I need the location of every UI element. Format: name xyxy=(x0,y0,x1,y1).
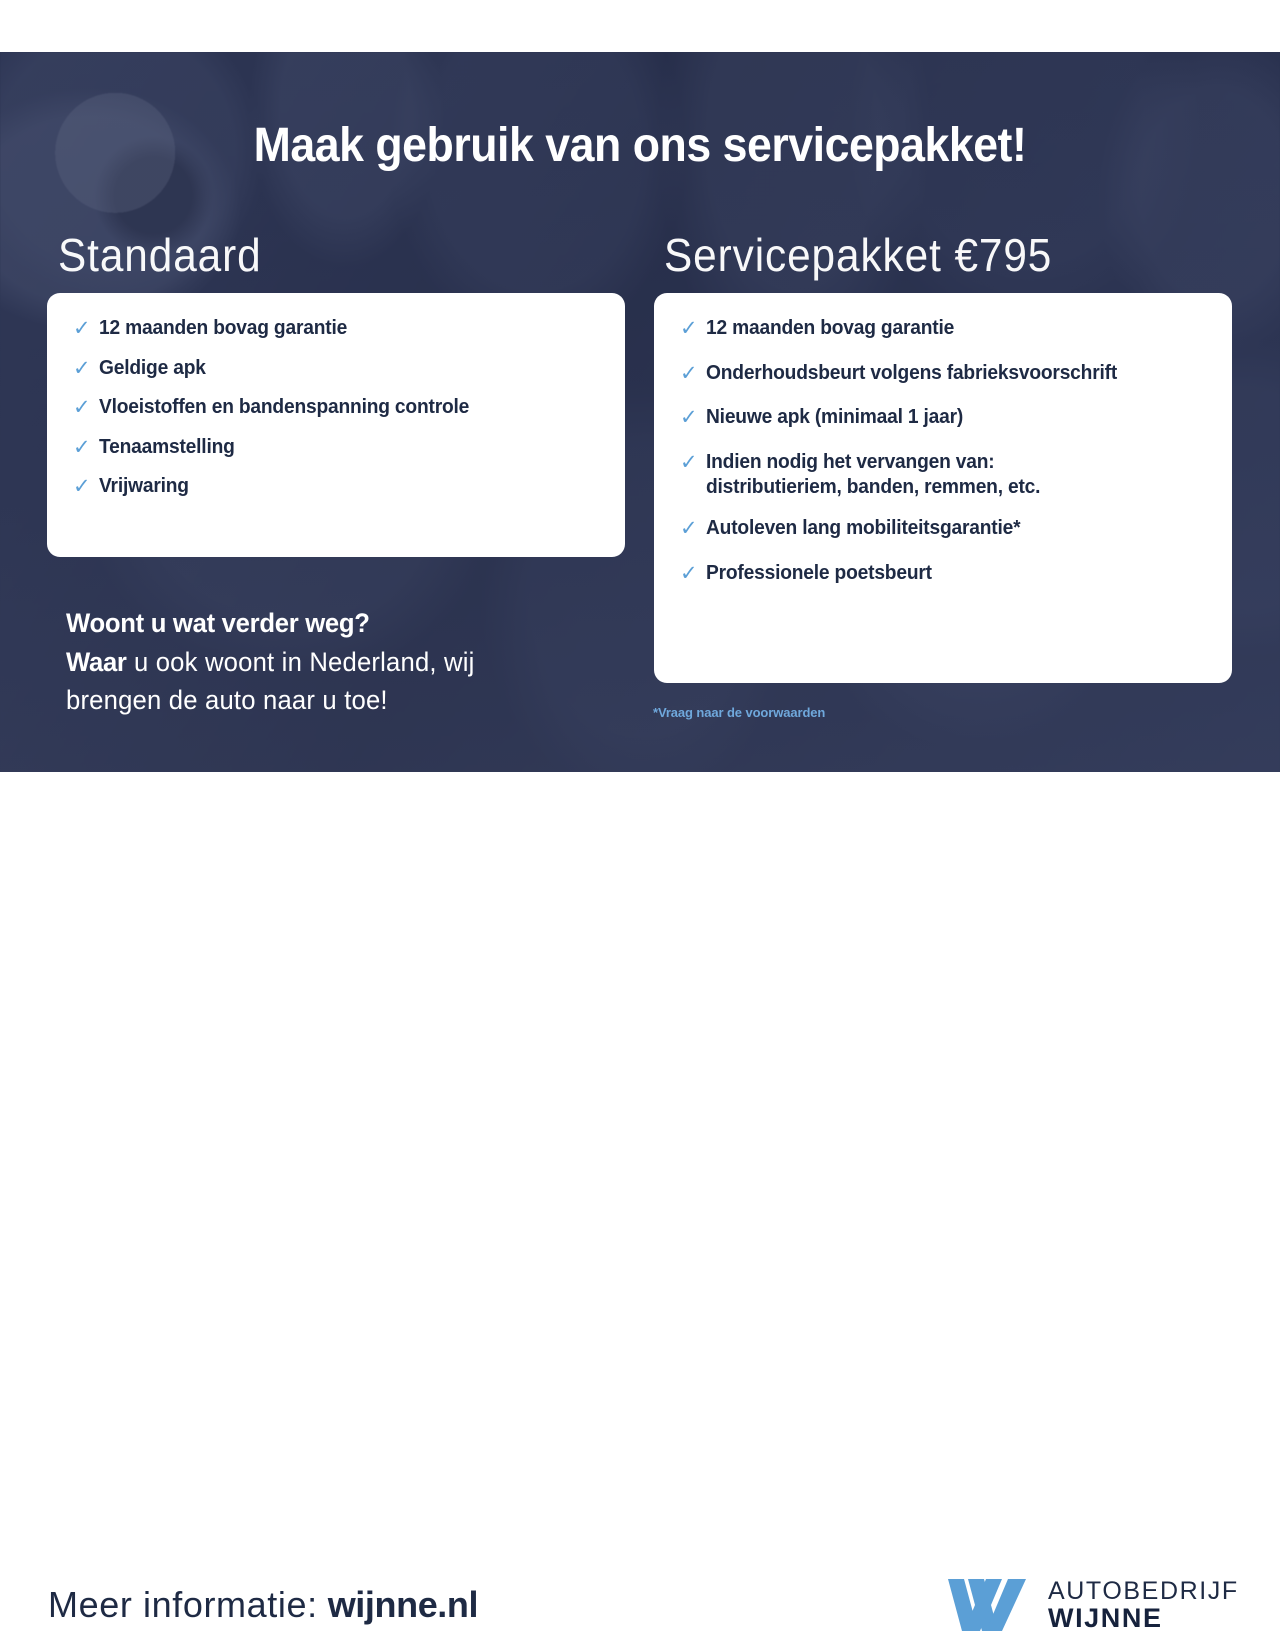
conditions-footnote: *Vraag naar de voorwaarden xyxy=(653,705,825,720)
logo-line-autobedrijf: AUTOBEDRIJF xyxy=(1048,1578,1239,1604)
check-icon: ✓ xyxy=(680,362,702,386)
promo-body: Waar u ook woont in Nederland, wij breng… xyxy=(66,643,598,720)
logo-line-wijnne: WIJNNE xyxy=(1048,1604,1239,1632)
website-link[interactable]: wijnne.nl xyxy=(328,1584,478,1625)
list-item: ✓ Vrijwaring xyxy=(73,475,599,499)
promo-heading: Woont u wat verder weg? xyxy=(66,604,598,643)
promo-body-line2: brengen de auto naar u toe! xyxy=(66,681,598,720)
list-item: ✓ Tenaamstelling xyxy=(73,436,599,460)
wijnne-w-logo-icon xyxy=(948,1579,1032,1631)
feature-label: Onderhoudsbeurt volgens fabrieksvoorschr… xyxy=(706,362,1117,386)
list-item: ✓ Geldige apk xyxy=(73,357,599,381)
check-icon: ✓ xyxy=(73,436,95,460)
check-icon: ✓ xyxy=(73,357,95,381)
footer-bar: Meer informatie: wijnne.nl AUTOBEDRIJF W… xyxy=(0,772,1280,960)
check-icon: ✓ xyxy=(73,396,95,420)
check-icon: ✓ xyxy=(73,475,95,499)
feature-label: Tenaamstelling xyxy=(99,436,235,460)
list-item: ✓ Autoleven lang mobiliteitsgarantie* xyxy=(680,517,1206,541)
feature-label-continuation: distributieriem, banden, remmen, etc. xyxy=(706,476,1186,499)
check-icon: ✓ xyxy=(680,451,702,475)
list-item: ✓ Onderhoudsbeurt volgens fabrieksvoorsc… xyxy=(680,362,1206,386)
more-info-label: Meer informatie: xyxy=(48,1584,318,1625)
list-item: ✓ 12 maanden bovag garantie xyxy=(73,317,599,341)
feature-label: Autoleven lang mobiliteitsgarantie* xyxy=(706,517,1020,541)
feature-label: Vloeistoffen en bandenspanning controle xyxy=(99,396,469,420)
list-item: ✓ Nieuwe apk (minimaal 1 jaar) xyxy=(680,406,1206,430)
service-package-poster: Maak gebruik van ons servicepakket! Stan… xyxy=(0,0,1280,960)
list-item: ✓ Indien nodig het vervangen van: xyxy=(680,451,1206,475)
feature-label: Geldige apk xyxy=(99,357,206,381)
feature-label: 12 maanden bovag garantie xyxy=(706,317,954,341)
list-item: ✓ Professionele poetsbeurt xyxy=(680,562,1206,586)
feature-label: Professionele poetsbeurt xyxy=(706,562,932,586)
standaard-feature-card: ✓ 12 maanden bovag garantie ✓ Geldige ap… xyxy=(47,293,625,557)
check-icon: ✓ xyxy=(680,406,702,430)
promo-lead-word: Waar xyxy=(66,647,127,677)
column-title-standaard: Standaard xyxy=(58,228,262,282)
logo-wordmark: AUTOBEDRIJF WIJNNE xyxy=(1048,1578,1239,1633)
more-info-line: Meer informatie: wijnne.nl xyxy=(48,1584,478,1626)
check-icon: ✓ xyxy=(680,562,702,586)
promo-body-line1: u ook woont in Nederland, wij xyxy=(127,647,475,677)
feature-label: Indien nodig het vervangen van: xyxy=(706,451,994,475)
servicepakket-feature-card: ✓ 12 maanden bovag garantie ✓ Onderhouds… xyxy=(654,293,1232,683)
check-icon: ✓ xyxy=(73,317,95,341)
delivery-promo-block: Woont u wat verder weg? Waar u ook woont… xyxy=(66,604,598,720)
feature-label: 12 maanden bovag garantie xyxy=(99,317,347,341)
check-icon: ✓ xyxy=(680,517,702,541)
feature-label: Nieuwe apk (minimaal 1 jaar) xyxy=(706,406,963,430)
check-icon: ✓ xyxy=(680,317,702,341)
list-item: ✓ Vloeistoffen en bandenspanning control… xyxy=(73,396,599,420)
column-title-servicepakket: Servicepakket €795 xyxy=(664,228,1052,282)
feature-label: Vrijwaring xyxy=(99,475,189,499)
list-item: ✓ 12 maanden bovag garantie xyxy=(680,317,1206,341)
company-logo[interactable]: AUTOBEDRIJF WIJNNE xyxy=(948,1578,1239,1633)
page-title: Maak gebruik van ons servicepakket! xyxy=(45,118,1235,173)
